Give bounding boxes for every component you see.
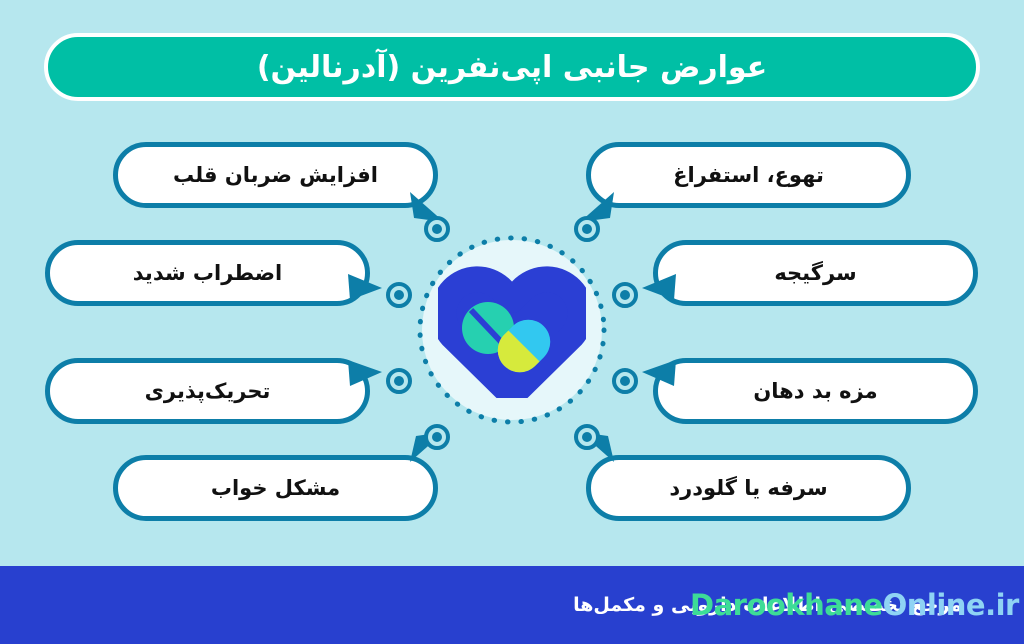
side-effect-left-3[interactable]: تحریک‌پذیری <box>45 358 370 424</box>
connector-node-low-left <box>386 368 412 394</box>
infographic-canvas: عوارض جانبی اپی‌نفرین (آدرنالین) افزایش … <box>0 0 1024 644</box>
connector-tail-right-2 <box>642 272 676 302</box>
side-effect-label: تهوع، استفراغ <box>673 163 824 187</box>
side-effect-right-1[interactable]: تهوع، استفراغ <box>586 142 911 208</box>
side-effect-right-3[interactable]: مزه بد دهان <box>653 358 978 424</box>
connector-tail-left-2 <box>348 272 382 302</box>
connector-node-mid-left <box>386 282 412 308</box>
side-effect-label: مزه بد دهان <box>753 379 877 403</box>
connector-node-top-left <box>424 216 450 242</box>
heart-pill-logo-icon <box>438 262 586 398</box>
side-effect-label: افزایش ضربان قلب <box>173 163 378 187</box>
side-effect-label: تحریک‌پذیری <box>145 379 271 403</box>
side-effect-right-4[interactable]: سرفه یا گلودرد <box>586 455 911 521</box>
page-title: عوارض جانبی اپی‌نفرین (آدرنالین) <box>257 50 767 85</box>
side-effect-label: سرگیجه <box>774 261 856 285</box>
center-graphic <box>392 210 632 450</box>
title-banner: عوارض جانبی اپی‌نفرین (آدرنالین) <box>44 33 980 101</box>
side-effect-left-1[interactable]: افزایش ضربان قلب <box>113 142 438 208</box>
connector-node-bottom-right <box>574 424 600 450</box>
connector-node-low-right <box>612 368 638 394</box>
footer-bar: مرجع تخصصی اطلاعات دارویی و مکمل‌ها Daro… <box>0 566 1024 644</box>
logo-primary-text: Darookhane <box>690 588 883 622</box>
side-effect-label: سرفه یا گلودرد <box>669 476 827 500</box>
side-effect-left-4[interactable]: مشکل خواب <box>113 455 438 521</box>
side-effect-label: مشکل خواب <box>211 476 340 500</box>
side-effect-left-2[interactable]: اضطراب شدید <box>45 240 370 306</box>
side-effect-label: اضطراب شدید <box>133 261 282 285</box>
connector-node-mid-right <box>612 282 638 308</box>
connector-tail-right-3 <box>642 358 676 388</box>
site-logo[interactable]: DarookhaneOnline.ir <box>690 588 1019 622</box>
connector-tail-left-3 <box>348 358 382 388</box>
connector-node-top-right <box>574 216 600 242</box>
side-effect-right-2[interactable]: سرگیجه <box>653 240 978 306</box>
connector-node-bottom-left <box>424 424 450 450</box>
logo-secondary-text: Online.ir <box>883 588 1019 622</box>
